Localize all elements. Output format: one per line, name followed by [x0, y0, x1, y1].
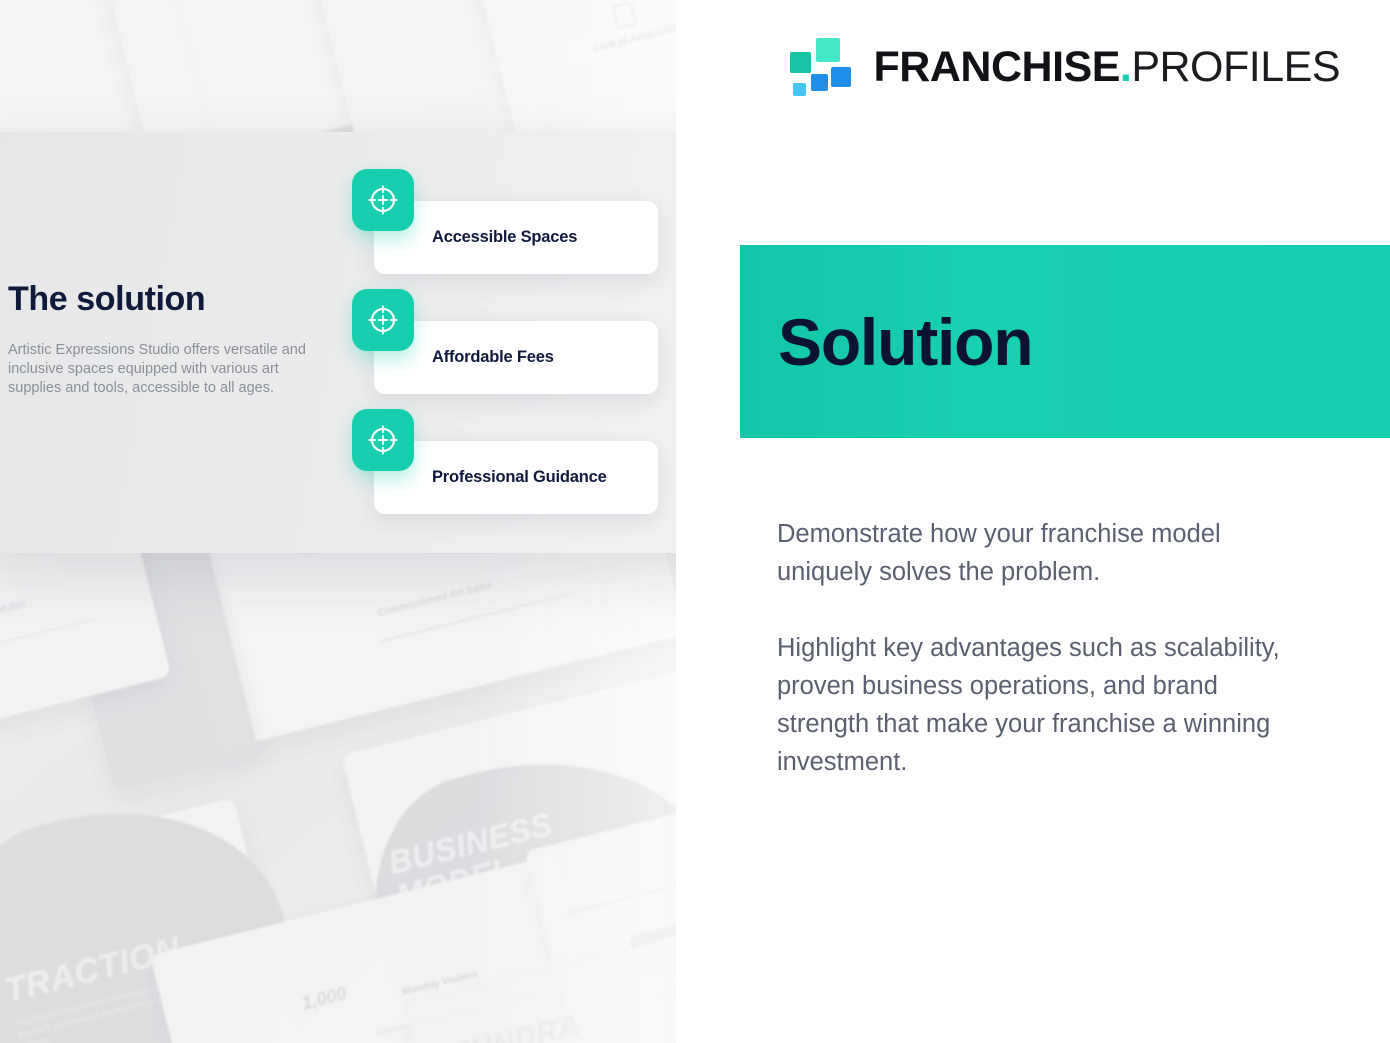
feature-label: Professional Guidance — [432, 468, 607, 487]
crosshair-target-icon — [352, 289, 414, 351]
solution-preview-card: The solution Artistic Expressions Studio… — [0, 132, 737, 553]
brand-name-light: PROFILES — [1131, 43, 1340, 91]
brand-name-bold: FRANCHISE — [874, 43, 1120, 91]
description-paragraph: Highlight key advantages such as scalabi… — [777, 629, 1317, 781]
squares-logo-mark-icon — [790, 38, 852, 96]
brand-logo: FRANCHISE.PROFILES — [790, 38, 1340, 96]
feature-item[interactable]: Accessible Spaces — [352, 169, 672, 289]
feature-card[interactable]: Accessible Spaces — [374, 201, 658, 274]
feature-label: Affordable Fees — [432, 348, 554, 367]
collage-stat-market: $10,000,000 — [0, 599, 27, 623]
right-panel: FRANCHISE.PROFILES Solution Demonstrate … — [676, 0, 1390, 1043]
collage-label-accessibility: Lack of Accessibility — [592, 20, 676, 55]
feature-card[interactable]: Affordable Fees — [374, 321, 658, 394]
brand-name-dot: . — [1120, 43, 1131, 91]
feature-label: Accessible Spaces — [432, 228, 577, 247]
crosshair-target-icon — [352, 169, 414, 231]
section-title-band: Solution — [740, 245, 1390, 438]
feature-card[interactable]: Professional Guidance — [374, 441, 658, 514]
description-block: Demonstrate how your franchise model uni… — [777, 515, 1317, 781]
feature-list: Accessible Spaces A — [352, 169, 672, 529]
feature-item[interactable]: Professional Guidance — [352, 409, 672, 529]
preview-text-block: The solution Artistic Expressions Studio… — [8, 282, 338, 398]
page-title: Solution — [778, 309, 1032, 375]
slide-canvas: T Many individuals and communities lack … — [0, 0, 1390, 1043]
preview-body: Artistic Expressions Studio offers versa… — [8, 341, 320, 398]
crosshair-target-icon — [352, 409, 414, 471]
brand-wordmark: FRANCHISE.PROFILES — [874, 46, 1340, 89]
description-paragraph: Demonstrate how your franchise model uni… — [777, 515, 1317, 591]
preview-title: The solution — [8, 282, 338, 318]
feature-item[interactable]: Affordable Fees — [352, 289, 672, 409]
collage-stat-visitors: 1,000 — [300, 983, 349, 1014]
collage-label-commissions: Commissioned Art Sales — [376, 580, 493, 619]
collage-text-fundraising: FUNDRA — [450, 1008, 584, 1043]
